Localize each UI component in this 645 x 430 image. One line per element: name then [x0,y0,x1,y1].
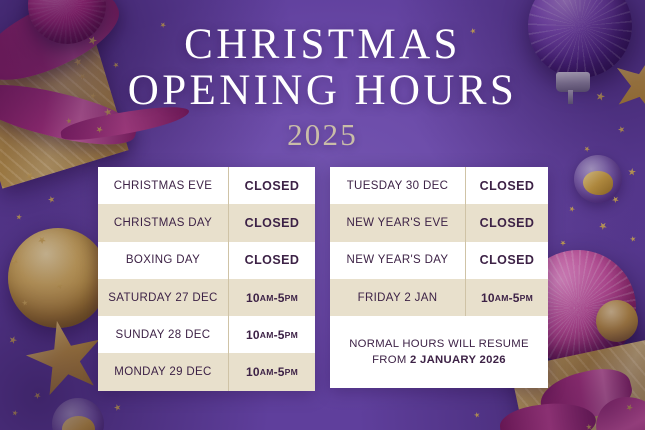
hours-cell-open: 10AM-5PM [229,353,315,390]
table-row: SUNDAY 28 DEC10AM-5PM [98,316,315,353]
hours-cell-closed: CLOSED [466,242,548,279]
table-row: MONDAY 29 DEC10AM-5PM [98,353,315,390]
table-row: TUESDAY 30 DECCLOSED [330,167,548,204]
day-label-cell: MONDAY 29 DEC [98,353,229,390]
hours-cell-closed: CLOSED [229,167,315,204]
hours-cell-closed: CLOSED [466,204,548,241]
ampm-suffix: PM [285,330,298,340]
resume-date: 2 JANUARY 2026 [410,354,506,366]
bauble-clear-bottom-left-icon [52,398,104,430]
table-row: CHRISTMAS DAYCLOSED [98,204,315,241]
star-confetti-icon [16,214,23,221]
star-confetti-icon [25,171,36,182]
table-row: NEW YEAR'S EVECLOSED [330,204,548,241]
resume-notice-line-1: NORMAL HOURS WILL RESUME [349,336,529,352]
day-label-cell: SUNDAY 28 DEC [98,316,229,353]
star-confetti-icon [113,403,122,412]
day-label-cell: CHRISTMAS DAY [98,204,229,241]
star-confetti-icon [8,335,18,345]
day-label-cell: NEW YEAR'S DAY [330,242,466,279]
right-hours-table: TUESDAY 30 DECCLOSEDNEW YEAR'S EVECLOSED… [330,167,548,388]
star-confetti-icon [33,391,43,401]
star-confetti-icon [611,195,621,205]
hours-cell-closed: CLOSED [229,204,315,241]
ampm-suffix: PM [285,367,298,377]
star-confetti-icon [568,205,576,213]
table-row: BOXING DAYCLOSED [98,242,315,279]
star-confetti-icon [473,411,480,418]
day-label-cell: BOXING DAY [98,242,229,279]
day-label-cell: TUESDAY 30 DEC [330,167,466,204]
hours-cell-open: 10AM-5PM [229,316,315,353]
table-row: SATURDAY 27 DEC10AM-5PM [98,279,315,316]
ampm-suffix: AM [495,293,509,303]
day-label-cell: FRIDAY 2 JAN [330,279,466,316]
bauble-gold-bottom-right-icon [596,300,638,342]
title-line-1: CHRISTMAS [0,22,645,68]
table-row: NEW YEAR'S DAYCLOSED [330,242,548,279]
title-year: 2025 [0,118,645,152]
star-confetti-icon [55,281,64,290]
bauble-clear-right-icon [574,155,622,203]
ampm-suffix: AM [260,330,274,340]
star-confetti-icon [22,300,29,307]
star-confetti-icon [597,220,608,231]
table-row: FRIDAY 2 JAN10AM-5PM [330,279,548,316]
ampm-suffix: PM [285,293,298,303]
title-line-2: OPENING HOURS [0,68,645,114]
page-title: CHRISTMAS OPENING HOURS 2025 [0,22,645,152]
table-row: CHRISTMAS EVECLOSED [98,167,315,204]
star-confetti-icon [36,234,47,245]
bow-bottom-right-c-icon [498,399,598,430]
star-confetti-icon [628,168,637,177]
day-label-cell: CHRISTMAS EVE [98,167,229,204]
star-confetti-icon [11,409,18,416]
christmas-opening-hours-poster: CHRISTMAS OPENING HOURS 2025 CHRISTMAS E… [0,0,645,430]
star-confetti-icon [11,257,19,265]
hours-cell-open: 10AM-5PM [466,279,548,316]
day-label-cell: NEW YEAR'S EVE [330,204,466,241]
resume-notice-line-2: FROM 2 JANUARY 2026 [372,352,506,368]
bauble-gold-bottom-left-icon [8,228,108,328]
day-label-cell: SATURDAY 27 DEC [98,279,229,316]
hours-cell-closed: CLOSED [466,167,548,204]
star-confetti-icon [559,239,567,247]
left-hours-table: CHRISTMAS EVECLOSEDCHRISTMAS DAYCLOSEDBO… [98,167,315,391]
ampm-suffix: AM [260,293,274,303]
hours-cell-closed: CLOSED [229,242,315,279]
ampm-suffix: AM [260,367,274,377]
star-confetti-icon [625,403,634,412]
resume-notice: NORMAL HOURS WILL RESUMEFROM 2 JANUARY 2… [330,316,548,388]
hours-cell-open: 10AM-5PM [229,279,315,316]
ampm-suffix: PM [520,293,533,303]
star-confetti-icon [586,424,593,430]
star-confetti-icon [629,235,636,242]
star-confetti-icon [47,195,56,204]
bow-bottom-right-a-icon [536,362,636,429]
bow-bottom-right-b-icon [587,387,645,430]
